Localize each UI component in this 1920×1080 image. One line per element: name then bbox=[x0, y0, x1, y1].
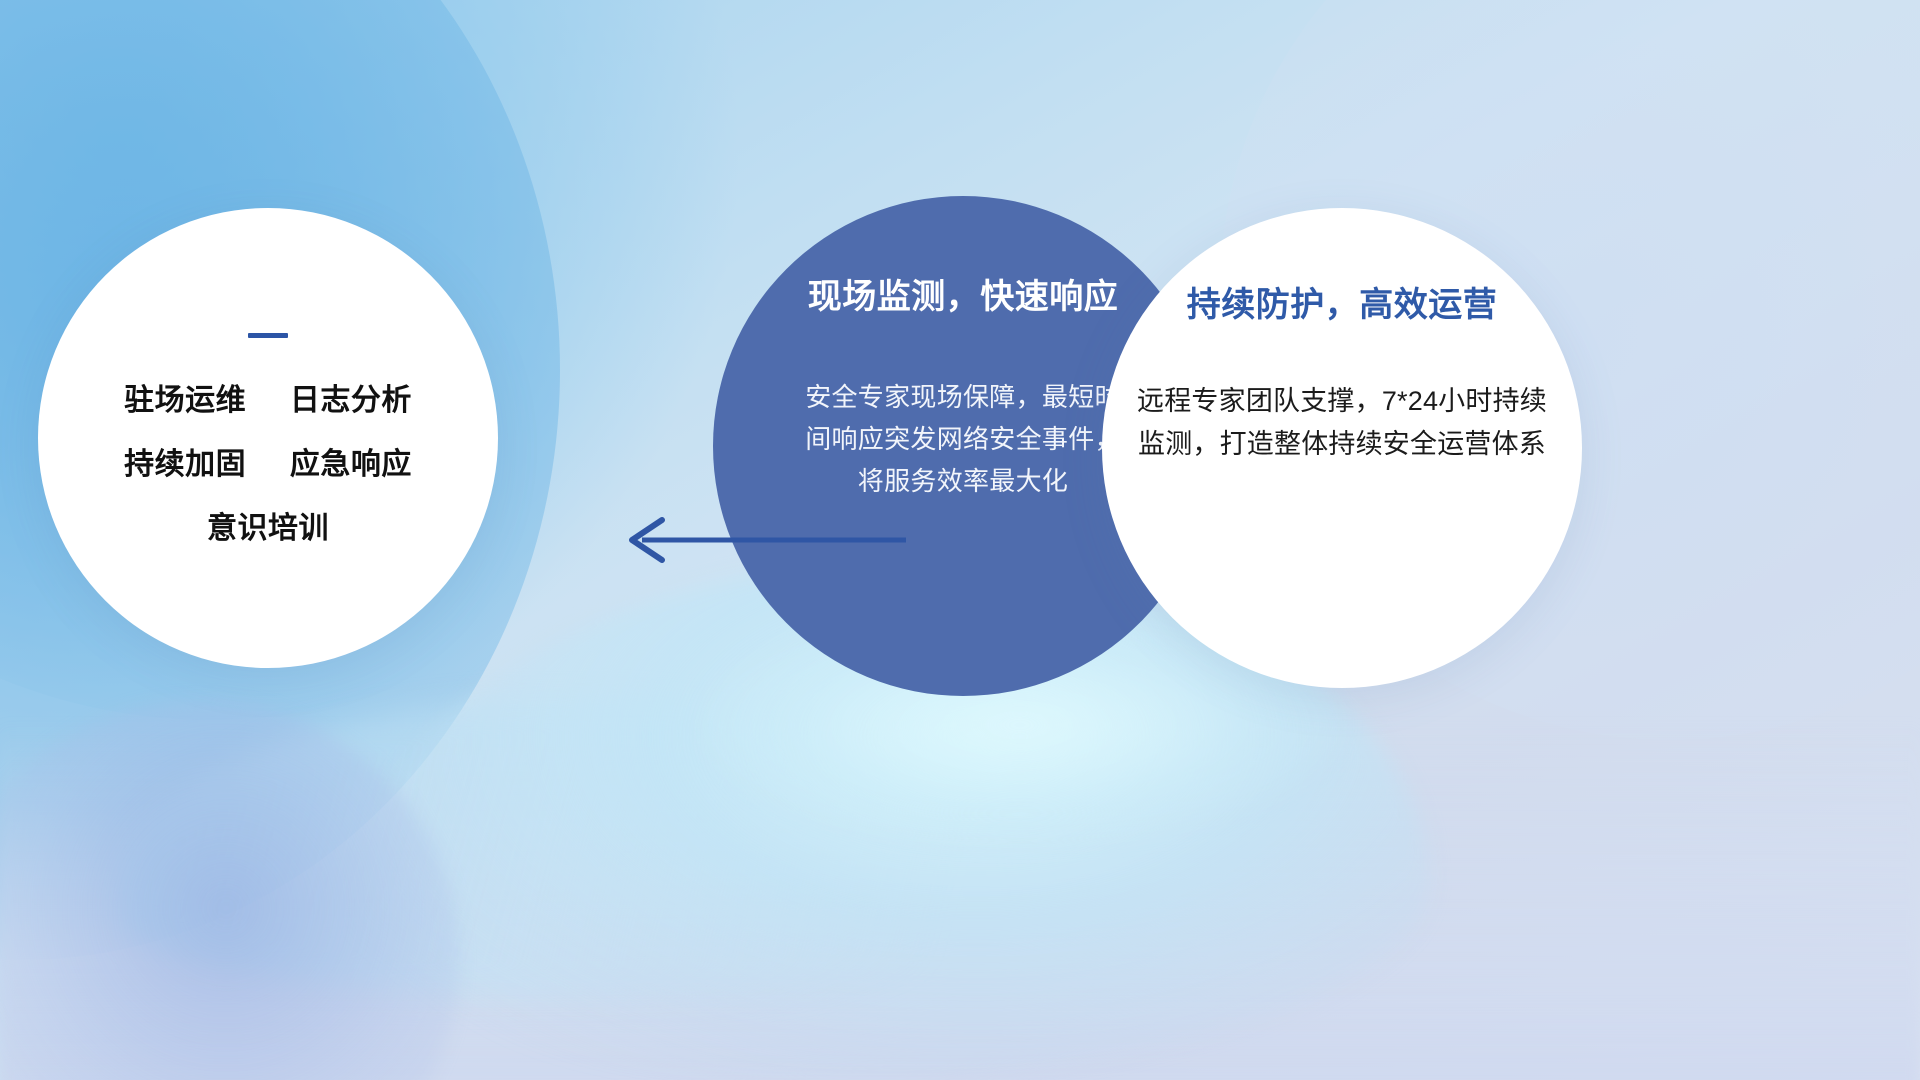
list-item: 持续加固 应急响应 bbox=[124, 450, 412, 480]
circle-mid-body: 安全专家现场保障，最短时间响应突发网络安全事件，将服务效率最大化 bbox=[803, 376, 1123, 502]
circle-right-title: 持续防护，高效运营 bbox=[1187, 288, 1498, 322]
left-line-3a: 意识培训 bbox=[207, 512, 329, 545]
diagram-stage: 现场监测，快速响应 安全专家现场保障，最短时间响应突发网络安全事件，将服务效率最… bbox=[0, 0, 1920, 1080]
left-line-2a: 持续加固 bbox=[124, 448, 246, 481]
list-item: 意识培训 bbox=[124, 514, 412, 544]
left-line-2b: 应急响应 bbox=[290, 448, 412, 481]
left-line-1b: 日志分析 bbox=[290, 384, 412, 417]
list-item: 驻场运维 日志分析 bbox=[124, 386, 412, 416]
circle-continuous-protection[interactable]: 持续防护，高效运营 远程专家团队支撑，7*24小时持续监测，打造整体持续安全运营… bbox=[1102, 208, 1582, 688]
flow-arrow-left-icon bbox=[590, 500, 910, 580]
circle-left-line-list: 驻场运维 日志分析 持续加固 应急响应 意识培训 bbox=[124, 386, 412, 544]
divider-dash-icon bbox=[248, 333, 288, 338]
circle-service-capabilities[interactable]: 驻场运维 日志分析 持续加固 应急响应 意识培训 bbox=[38, 208, 498, 668]
circle-right-body: 远程专家团队支撑，7*24小时持续监测，打造整体持续安全运营体系 bbox=[1132, 380, 1552, 466]
left-line-1a: 驻场运维 bbox=[124, 384, 246, 417]
circle-mid-title: 现场监测，快速响应 bbox=[808, 280, 1119, 314]
